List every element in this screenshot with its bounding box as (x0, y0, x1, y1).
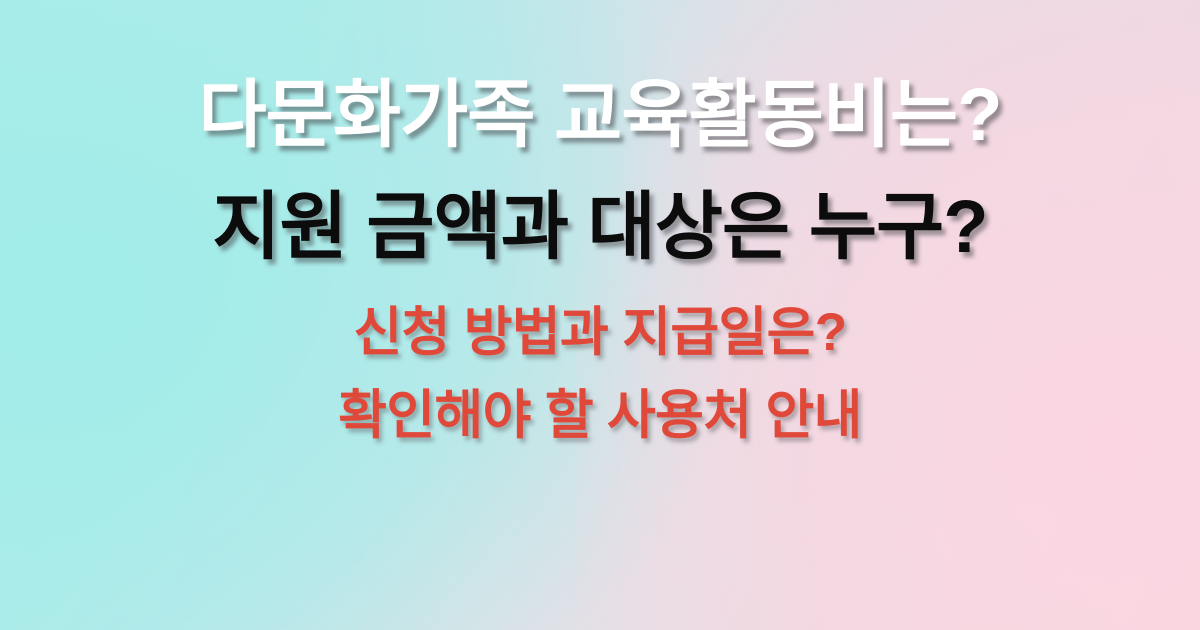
headline-text-block: 다문화가족 교육활동비는? 지원 금액과 대상은 누구? 신청 방법과 지급일은… (0, 0, 1200, 630)
subheadline-line-1: 신청 방법과 지급일은? (0, 306, 1200, 359)
subheadline-line-2: 확인해야 할 사용처 안내 (0, 389, 1200, 442)
thumbnail-canvas: 다문화가족 교육활동비는? 지원 금액과 대상은 누구? 신청 방법과 지급일은… (0, 0, 1200, 630)
headline-line-2: 지원 금액과 대상은 누구? (0, 190, 1200, 264)
headline-line-1: 다문화가족 교육활동비는? (0, 78, 1200, 152)
